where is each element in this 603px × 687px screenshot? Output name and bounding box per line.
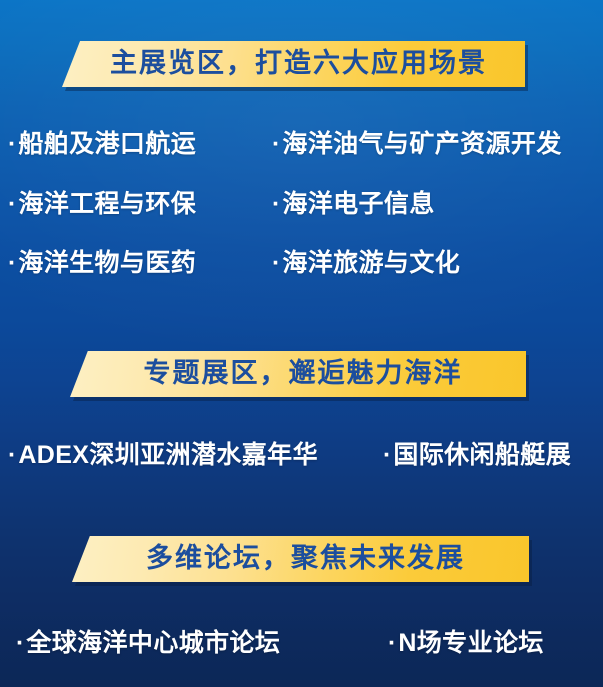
poster-canvas: 主展览区，打造六大应用场景 · 船舶及港口航运 · 海洋油气与矿产资源开发 · … — [0, 0, 603, 687]
bullet-icon: · — [8, 251, 16, 276]
list-item: · 船舶及港口航运 — [8, 132, 196, 157]
banner-plate: 主展览区，打造六大应用场景 — [62, 41, 525, 87]
list-item-label: 海洋工程与环保 — [18, 192, 196, 217]
banner-title-forums: 多维论坛，聚焦未来发展 — [136, 545, 465, 572]
list-item-label: 海洋电子信息 — [282, 192, 434, 217]
list-item-label: ADEX深圳亚洲潜水嘉年华 — [18, 443, 318, 468]
list-item-label: 船舶及港口航运 — [18, 132, 196, 157]
list-item: · ADEX深圳亚洲潜水嘉年华 — [8, 443, 318, 468]
list-item: · 国际休闲船艇展 — [383, 443, 571, 468]
list-item-label: 国际休闲船艇展 — [393, 443, 571, 468]
list-item-label: 海洋油气与矿产资源开发 — [282, 132, 561, 157]
list-item-label: N场专业论坛 — [398, 631, 543, 656]
bullet-icon: · — [16, 631, 24, 656]
list-item: · 全球海洋中心城市论坛 — [16, 631, 280, 656]
bullet-icon: · — [388, 631, 396, 656]
list-item-label: 海洋旅游与文化 — [282, 251, 460, 276]
bullet-icon: · — [272, 192, 280, 217]
banner-plate: 多维论坛，聚焦未来发展 — [72, 536, 529, 582]
bullet-icon: · — [272, 132, 280, 157]
list-item-label: 海洋生物与医药 — [18, 251, 196, 276]
banner-plate: 专题展区，邂逅魅力海洋 — [70, 351, 526, 397]
bullet-icon: · — [383, 443, 391, 468]
section-banner-themed-exhibition: 专题展区，邂逅魅力海洋 — [70, 351, 526, 397]
list-item: · 海洋电子信息 — [272, 192, 435, 217]
bullet-icon: · — [8, 443, 16, 468]
section-banner-forums: 多维论坛，聚焦未来发展 — [72, 536, 529, 582]
list-item: · 海洋生物与医药 — [8, 251, 196, 276]
section-banner-main-exhibition: 主展览区，打造六大应用场景 — [62, 41, 525, 87]
list-item: · 海洋旅游与文化 — [272, 251, 460, 276]
banner-title-themed-exhibition: 专题展区，邂逅魅力海洋 — [134, 360, 463, 387]
bullet-icon: · — [8, 132, 16, 157]
banner-title-main-exhibition: 主展览区，打造六大应用场景 — [100, 50, 487, 77]
list-item: · 海洋油气与矿产资源开发 — [272, 132, 562, 157]
list-item: · N场专业论坛 — [388, 631, 544, 656]
list-item: · 海洋工程与环保 — [8, 192, 196, 217]
bullet-icon: · — [272, 251, 280, 276]
bullet-icon: · — [8, 192, 16, 217]
list-item-label: 全球海洋中心城市论坛 — [26, 631, 280, 656]
